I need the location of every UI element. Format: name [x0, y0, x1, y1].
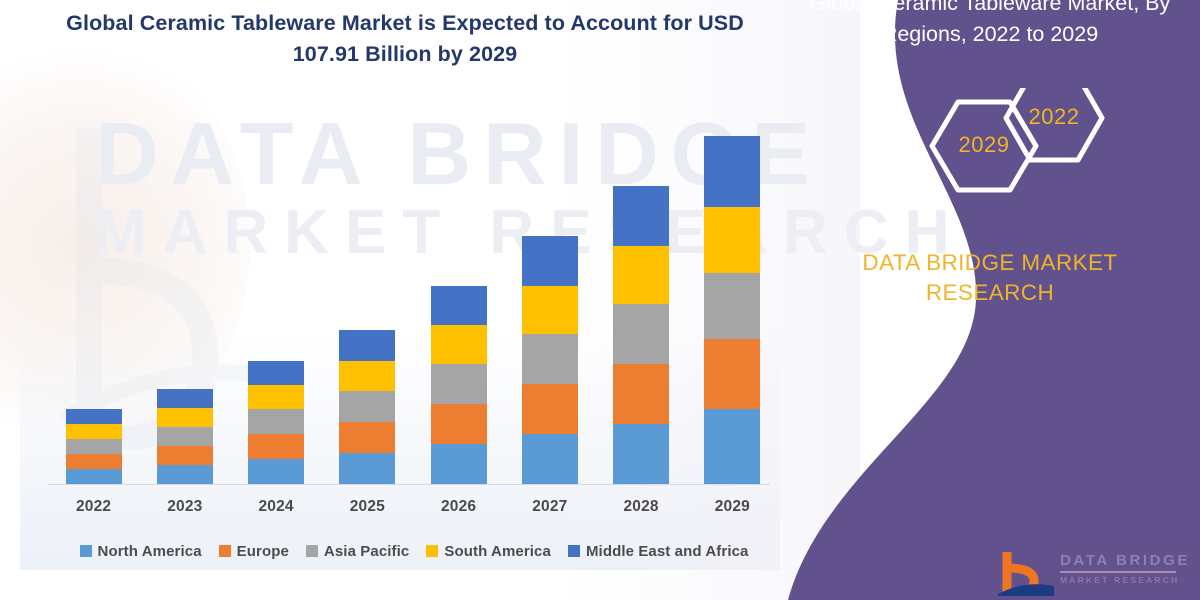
brand-name-line-2: RESEARCH — [780, 278, 1200, 308]
bar-segment-europe-2029[interactable] — [704, 339, 760, 409]
bar-segment-asia-pacific-2025[interactable] — [339, 391, 395, 422]
bar-segment-south-america-2029[interactable] — [704, 207, 760, 273]
legend-swatch-icon — [426, 545, 438, 557]
stacked-bar-chart: 20222023202420252026202720282029 North A… — [0, 0, 800, 600]
bar-segment-middle-east-and-africa-2026[interactable] — [431, 286, 487, 325]
bar-segment-north-america-2022[interactable] — [66, 469, 122, 484]
x-axis-label-2028: 2028 — [606, 498, 676, 516]
x-axis-label-2029: 2029 — [697, 498, 767, 516]
bar-segment-north-america-2028[interactable] — [613, 424, 669, 484]
hexagon-label-2029: 2029 — [948, 132, 1020, 158]
x-axis-label-2026: 2026 — [424, 498, 494, 516]
bar-segment-europe-2025[interactable] — [339, 422, 395, 453]
bar-segment-south-america-2025[interactable] — [339, 361, 395, 391]
x-axis-label-2022: 2022 — [59, 498, 129, 516]
panel-title-clipped-line: Global Ceramic Tableware Market, By — [792, 0, 1188, 19]
bar-group-2026[interactable] — [431, 286, 487, 484]
legend-item-asia-pacific[interactable]: Asia Pacific — [306, 543, 409, 560]
bar-segment-europe-2026[interactable] — [431, 404, 487, 444]
bar-segment-north-america-2023[interactable] — [157, 465, 213, 484]
legend-label: Asia Pacific — [324, 543, 409, 560]
bar-segment-europe-2023[interactable] — [157, 446, 213, 465]
bar-group-2028[interactable] — [613, 186, 669, 484]
legend-label: North America — [98, 543, 202, 560]
bar-segment-middle-east-and-africa-2024[interactable] — [248, 361, 304, 385]
footer-logo-divider — [1060, 571, 1176, 573]
bar-segment-asia-pacific-2026[interactable] — [431, 364, 487, 404]
bar-segment-north-america-2025[interactable] — [339, 453, 395, 484]
bar-segment-asia-pacific-2024[interactable] — [248, 409, 304, 434]
bar-segment-north-america-2026[interactable] — [431, 444, 487, 484]
legend-swatch-icon — [306, 545, 318, 557]
chart-plot-area — [48, 100, 778, 484]
footer-logo-subtext: MARKET RESEARCH — [1060, 575, 1179, 585]
bar-segment-south-america-2027[interactable] — [522, 286, 578, 334]
legend-label: Middle East and Africa — [586, 543, 749, 560]
x-axis-label-2023: 2023 — [150, 498, 220, 516]
chart-legend: North AmericaEuropeAsia PacificSouth Ame… — [44, 538, 784, 564]
bar-segment-north-america-2027[interactable] — [522, 434, 578, 484]
brand-name-line-1: DATA BRIDGE MARKET — [780, 248, 1200, 278]
bar-segment-middle-east-and-africa-2025[interactable] — [339, 330, 395, 361]
bar-segment-middle-east-and-africa-2027[interactable] — [522, 236, 578, 286]
bar-segment-asia-pacific-2022[interactable] — [66, 439, 122, 454]
bar-segment-europe-2028[interactable] — [613, 364, 669, 424]
bar-segment-south-america-2026[interactable] — [431, 325, 487, 364]
bar-group-2027[interactable] — [522, 236, 578, 484]
bar-segment-north-america-2029[interactable] — [704, 409, 760, 484]
x-axis-label-2025: 2025 — [332, 498, 402, 516]
hexagon-badges: 2029 2022 — [780, 88, 1200, 218]
footer-logo: DATA BRIDGE MARKET RESEARCH — [998, 548, 1198, 596]
hexagon-label-2022: 2022 — [1018, 104, 1090, 130]
bridge-mark-icon — [998, 550, 1056, 596]
bar-segment-south-america-2023[interactable] — [157, 408, 213, 427]
bar-segment-north-america-2024[interactable] — [248, 459, 304, 484]
bar-segment-asia-pacific-2027[interactable] — [522, 334, 578, 384]
legend-swatch-icon — [568, 545, 580, 557]
bar-segment-asia-pacific-2029[interactable] — [704, 273, 760, 339]
legend-item-north-america[interactable]: North America — [80, 543, 202, 560]
footer-logo-text: DATA BRIDGE — [1060, 552, 1190, 569]
bar-segment-europe-2027[interactable] — [522, 384, 578, 434]
bar-segment-asia-pacific-2023[interactable] — [157, 427, 213, 446]
brand-panel: Global Ceramic Tableware Market, By Regi… — [780, 0, 1200, 600]
legend-label: South America — [444, 543, 551, 560]
panel-title: Global Ceramic Tableware Market, By Regi… — [792, 0, 1188, 49]
bar-segment-europe-2024[interactable] — [248, 434, 304, 459]
bar-segment-asia-pacific-2028[interactable] — [613, 304, 669, 364]
brand-name: DATA BRIDGE MARKET RESEARCH — [780, 248, 1200, 309]
bar-segment-south-america-2022[interactable] — [66, 424, 122, 439]
x-axis-label-2027: 2027 — [515, 498, 585, 516]
bar-segment-middle-east-and-africa-2028[interactable] — [613, 186, 669, 246]
legend-item-south-america[interactable]: South America — [426, 543, 551, 560]
legend-item-middle-east-and-africa[interactable]: Middle East and Africa — [568, 543, 749, 560]
legend-swatch-icon — [80, 545, 92, 557]
x-axis-line — [48, 484, 770, 485]
bar-group-2029[interactable] — [704, 136, 760, 484]
legend-item-europe[interactable]: Europe — [219, 543, 289, 560]
bar-group-2022[interactable] — [66, 409, 122, 484]
bar-group-2023[interactable] — [157, 389, 213, 484]
x-axis-label-2024: 2024 — [241, 498, 311, 516]
legend-swatch-icon — [219, 545, 231, 557]
bar-segment-south-america-2024[interactable] — [248, 385, 304, 409]
bar-segment-europe-2022[interactable] — [66, 454, 122, 469]
bar-segment-middle-east-and-africa-2022[interactable] — [66, 409, 122, 424]
x-axis-tick-labels: 20222023202420252026202720282029 — [48, 498, 778, 524]
legend-label: Europe — [237, 543, 289, 560]
bar-group-2024[interactable] — [248, 361, 304, 484]
bar-segment-middle-east-and-africa-2023[interactable] — [157, 389, 213, 408]
panel-title-line: Regions, 2022 to 2029 — [792, 19, 1188, 50]
bar-group-2025[interactable] — [339, 330, 395, 484]
bar-segment-south-america-2028[interactable] — [613, 246, 669, 304]
infographic-canvas: DATA BRIDGE MARKET RESEARCH Global Ceram… — [0, 0, 1200, 600]
bar-segment-middle-east-and-africa-2029[interactable] — [704, 136, 760, 207]
